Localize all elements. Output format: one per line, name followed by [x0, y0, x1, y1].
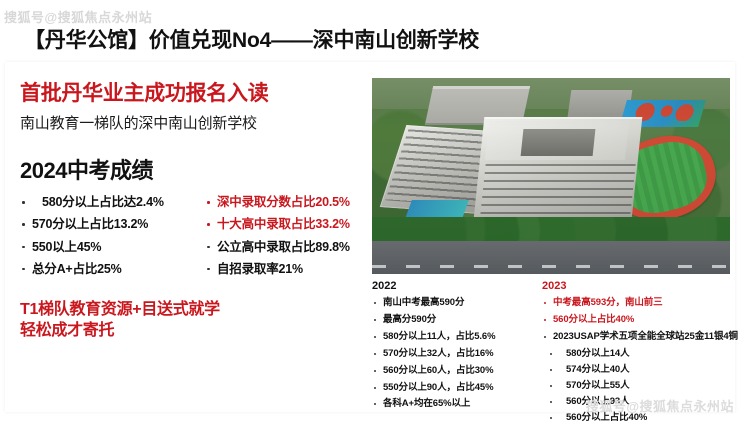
year-stat-item: 最高分590分: [372, 312, 534, 329]
score-bullet-item: 570分以上占比13.2%: [20, 213, 195, 235]
year-stat-item: 中考最高593分，南山前三: [542, 295, 734, 312]
campus-aerial-photo: [372, 78, 730, 274]
left-content-column: 首批丹华业主成功报名入读 南山教育一梯队的深中南山创新学校 2024中考成绩 5…: [20, 82, 370, 342]
bullet-list-right: 深中录取分数占比20.5%十大高中录取占比33.2%公立高中录取占比89.8%自…: [205, 191, 370, 280]
score-bullet-item: 580分以上占比达2.4%: [20, 191, 195, 213]
score-bullet-item: 公立高中录取占比89.8%: [205, 236, 370, 258]
year-stat-item: 570分以上32人，占比16%: [372, 346, 534, 363]
photo-canvas: [372, 78, 730, 274]
score-bullet-item: 十大高中录取占比33.2%: [205, 213, 370, 235]
score-bullet-item: 总分A+占比25%: [20, 258, 195, 280]
section-title-2024-scores: 2024中考成绩: [20, 153, 370, 185]
slide-card: 首批丹华业主成功报名入读 南山教育一梯队的深中南山创新学校 2024中考成绩 5…: [5, 62, 735, 412]
year-stat-item: 各科A+均在65%以上: [372, 396, 534, 413]
score-bullet-item: 550以上45%: [20, 236, 195, 258]
year-label: 2023: [542, 280, 734, 292]
year-stat-item: 570分以上55人: [542, 378, 734, 394]
score-bullet-item: 深中录取分数占比20.5%: [205, 191, 370, 213]
year-label: 2022: [372, 280, 534, 292]
watermark-bottom: 搜狐号@搜狐焦点永州站: [586, 396, 734, 415]
year-stat-item: 南山中考最高590分: [372, 295, 534, 312]
year-stat-item: 580分以上11人，占比5.6%: [372, 329, 534, 346]
score-bullet-item: 自招录取率21%: [205, 258, 370, 280]
lead-headline-red: 首批丹华业主成功报名入读: [20, 82, 370, 106]
footer-slogan-line-1: T1梯队教育资源+目送式就学: [20, 300, 370, 321]
score-bullet-columns: 580分以上占比达2.4%570分以上占比13.2%550以上45%总分A+占比…: [20, 191, 370, 280]
photo-shading-overlay: [372, 78, 730, 274]
lead-subheadline: 南山教育一梯队的深中南山创新学校: [20, 112, 370, 133]
footer-slogan-line-2: 轻松成才寄托: [20, 321, 370, 342]
year-stat-item: 580分以上14人: [542, 346, 734, 362]
year-stat-item: 2023USAP学术五项全能全球站25金11银4铜: [542, 329, 734, 346]
page-title: 【丹华公馆】价值兑现No4——深中南山创新学校: [24, 24, 479, 54]
year-item-list: 南山中考最高590分最高分590分580分以上11人，占比5.6%570分以上3…: [372, 295, 534, 413]
year-stat-item: 560分以上60人，占比30%: [372, 363, 534, 380]
year-column-2022: 2022 南山中考最高590分最高分590分580分以上11人，占比5.6%57…: [372, 280, 534, 425]
year-stat-item: 560分以上占比40%: [542, 312, 734, 329]
page-root: 搜狐号@搜狐焦点永州站 【丹华公馆】价值兑现No4——深中南山创新学校 首批丹华…: [0, 0, 740, 419]
bullet-list-left: 580分以上占比达2.4%570分以上占比13.2%550以上45%总分A+占比…: [20, 191, 195, 280]
year-stat-item: 574分以上40人: [542, 362, 734, 378]
year-stat-item: 550分以上90人，占比45%: [372, 380, 534, 397]
footer-slogan: T1梯队教育资源+目送式就学 轻松成才寄托: [20, 300, 370, 342]
